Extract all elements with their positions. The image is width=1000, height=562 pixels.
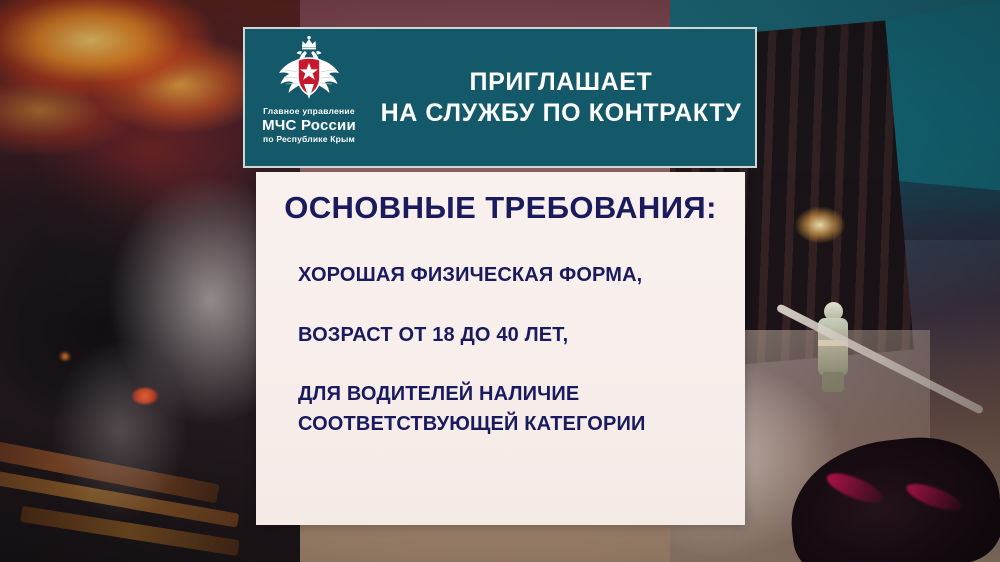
emercom-double-headed-eagle-emblem <box>271 35 347 105</box>
requirement-item-line1: ДЛЯ ВОДИТЕЛЕЙ НАЛИЧИЕ <box>298 383 579 405</box>
brand-line-3: по Республике Крым <box>262 135 356 145</box>
banner-headline: ПРИГЛАШАЕТ НА СЛУЖБУ ПО КОНТРАКТУ <box>373 29 755 166</box>
requirement-item: ВОЗРАСТ ОТ 18 ДО 40 ЛЕТ, <box>298 324 717 348</box>
requirement-item-line2: СООТВЕТСТВУЮЩЕЙ КАТЕГОРИИ <box>298 413 717 437</box>
requirements-list: ХОРОШАЯ ФИЗИЧЕСКАЯ ФОРМА, ВОЗРАСТ ОТ 18 … <box>298 264 717 436</box>
requirement-item: ДЛЯ ВОДИТЕЛЕЙ НАЛИЧИЕ СООТВЕТСТВУЮЩЕЙ КА… <box>298 383 717 436</box>
brand-line-1: Главное управление <box>262 107 356 117</box>
requirements-panel: ОСНОВНЫЕ ТРЕБОВАНИЯ: ХОРОШАЯ ФИЗИЧЕСКАЯ … <box>256 172 745 525</box>
requirement-item: ХОРОШАЯ ФИЗИЧЕСКАЯ ФОРМА, <box>298 264 717 288</box>
banner-headline-line2: НА СЛУЖБУ ПО КОНТРАКТУ <box>381 98 742 129</box>
brand-line-2: МЧС России <box>262 118 356 135</box>
brand-block: Главное управление МЧС России по Республ… <box>245 29 373 166</box>
panel-heading: ОСНОВНЫЕ ТРЕБОВАНИЯ: <box>256 190 745 226</box>
header-banner: Главное управление МЧС России по Республ… <box>243 27 757 168</box>
brand-text: Главное управление МЧС России по Республ… <box>262 107 356 145</box>
promo-slide: ОСНОВНЫЕ ТРЕБОВАНИЯ: ХОРОШАЯ ФИЗИЧЕСКАЯ … <box>0 0 1000 562</box>
banner-headline-line1: ПРИГЛАШАЕТ <box>470 67 653 98</box>
